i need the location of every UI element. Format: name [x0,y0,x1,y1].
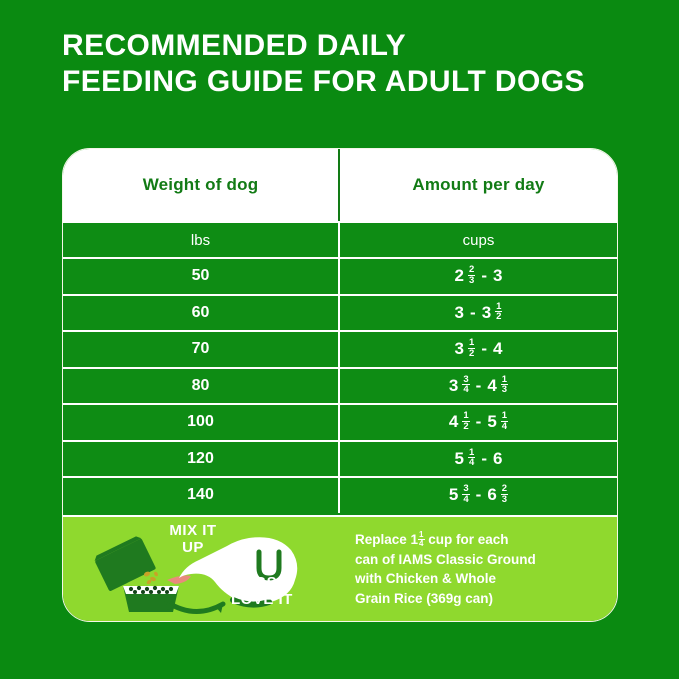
cell-amount: 5 3 4 - 6 2 3 [340,478,617,513]
table-row: 80 3 3 4 - 4 1 3 [63,367,617,404]
range-dash: - [476,412,482,432]
quarter-cup-fraction: 14 [418,531,424,548]
replacement-note: Replace 114 cup for each can of IAMS Cla… [355,530,617,608]
table-header-amount: Amount per day [340,149,617,221]
range-high-whole: 5 [487,412,496,432]
cell-amount: 3 1 2 - 4 [340,332,617,367]
range-low-whole: 2 [455,266,464,286]
range-dash: - [481,266,487,286]
range-high-whole: 3 [493,266,502,286]
range-dash: - [481,339,487,359]
range-low-whole: 5 [455,449,464,469]
table-header-row: Weight of dog Amount per day [63,149,617,221]
range-dash: - [476,485,482,505]
cell-amount: 4 1 2 - 5 1 4 [340,405,617,440]
range-low-fraction: 1 4 [468,448,475,468]
amount-range: 3 3 4 - 4 1 3 [449,376,508,396]
range-low-fraction: 1 2 [468,338,475,358]
cell-weight: 120 [63,442,340,477]
page-title-line-2: FEEDING GUIDE FOR ADULT DOGS [62,64,662,100]
range-high-whole: 6 [487,485,496,505]
range-low-fraction: 3 4 [462,484,469,504]
mix-it-up-line-2: UP [182,539,204,556]
table-row: 100 4 1 2 - 5 1 4 [63,403,617,440]
range-high-fraction: 1 2 [495,302,502,322]
amount-range: 4 1 2 - 5 1 4 [449,412,508,432]
cycle-arrow-icon [167,602,223,612]
table-row: 50 2 2 3 - 3 [63,257,617,294]
table-header-weight: Weight of dog [63,149,340,221]
replacement-note-line-4: Grain Rice (369g can) [355,589,593,609]
range-high-fraction: 1 4 [501,411,508,431]
feeding-guide-card: Weight of dog Amount per day lbs cups 50… [62,148,618,622]
amount-range: 3 1 2 - 4 [455,339,503,359]
range-high-whole: 4 [487,376,496,396]
cell-weight: 70 [63,332,340,367]
cell-amount: 5 1 4 - 6 [340,442,617,477]
cell-amount: 3 - 3 1 2 [340,296,617,331]
range-low-fraction: 1 2 [462,411,469,431]
range-low-whole: 5 [449,485,458,505]
range-low-whole: 4 [449,412,458,432]
range-low-whole: 3 [455,303,464,323]
cell-weight: 140 [63,478,340,513]
cell-weight: 80 [63,369,340,404]
range-low-fraction: 3 4 [462,375,469,395]
dogs-love-it-line-2: LOVE IT [231,591,293,608]
range-high-fraction: 2 3 [501,484,508,504]
amount-range: 5 1 4 - 6 [455,449,503,469]
cell-weight: 50 [63,259,340,294]
table-row: 70 3 1 2 - 4 [63,330,617,367]
page-title: RECOMMENDED DAILY FEEDING GUIDE FOR ADUL… [62,28,662,100]
dogs-love-it-line-1: DOGS [231,574,277,591]
replacement-note-line-2: can of IAMS Classic Ground [355,550,593,570]
amount-range: 3 - 3 1 2 [455,303,503,323]
range-low-whole: 3 [449,376,458,396]
table-units-weight: lbs [63,223,340,257]
range-dash: - [481,449,487,469]
amount-range: 5 3 4 - 6 2 3 [449,485,508,505]
table-units-amount: cups [340,223,617,257]
range-high-whole: 4 [493,339,502,359]
cell-amount: 2 2 3 - 3 [340,259,617,294]
range-high-whole: 3 [482,303,491,323]
page-title-line-1: RECOMMENDED DAILY [62,28,662,64]
range-high-whole: 6 [493,449,502,469]
dogs-love-it-label: DOGS LOVE IT [231,574,351,608]
mix-it-up-line-1: MIX IT [169,522,216,539]
table-units-row: lbs cups [63,221,617,257]
cell-weight: 60 [63,296,340,331]
table-row: 60 3 - 3 1 2 [63,294,617,331]
table-row: 120 5 1 4 - 6 [63,440,617,477]
amount-range: 2 2 3 - 3 [455,266,503,286]
table-row: 140 5 3 4 - 6 2 3 [63,476,617,513]
dog-tongue-icon [167,576,191,585]
replacement-note-line-1: Replace 114 cup for each [355,530,593,550]
cell-weight: 100 [63,405,340,440]
mix-it-up-graphic: MIX IT UP DOGS LOVE IT [63,516,355,622]
range-low-whole: 3 [455,339,464,359]
replacement-note-line-3: with Chicken & Whole [355,569,593,589]
kibble-stream-icon [143,571,159,585]
mix-it-up-footer: MIX IT UP DOGS LOVE IT Replace 114 cup f… [63,515,617,621]
range-dash: - [470,303,476,323]
mix-it-up-label: MIX IT UP [141,522,245,556]
range-low-fraction: 2 3 [468,265,475,285]
range-high-fraction: 1 3 [501,375,508,395]
range-dash: - [476,376,482,396]
cell-amount: 3 3 4 - 4 1 3 [340,369,617,404]
